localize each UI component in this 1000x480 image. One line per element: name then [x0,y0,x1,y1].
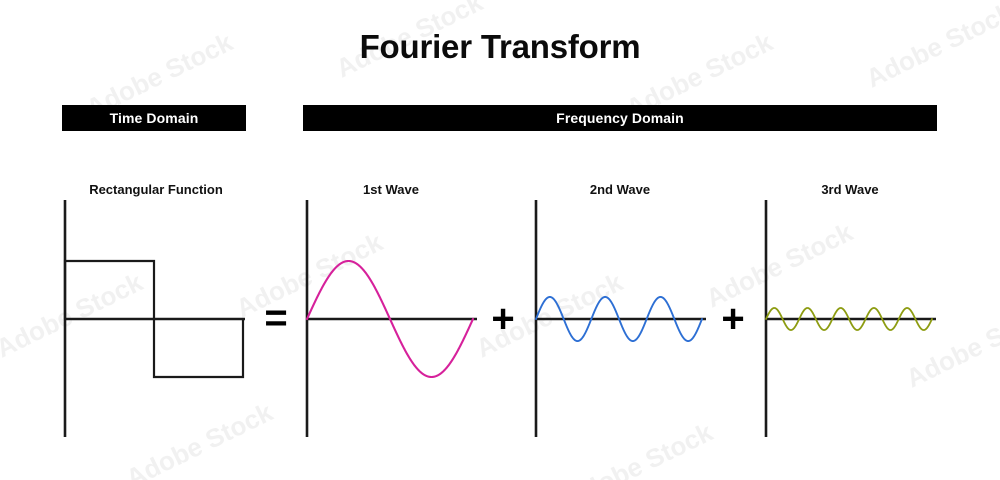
page-title: Fourier Transform [0,28,1000,66]
plot-3rd-wave-svg [756,195,946,445]
plus-operator-1: + [483,299,523,339]
plot-1st-wave-svg [297,195,487,445]
frequency-domain-bar: Frequency Domain [303,105,937,131]
plot-1st-wave [297,195,487,445]
plot-3rd-wave [756,195,946,445]
time-domain-bar-label: Time Domain [110,110,199,126]
fourier-transform-figure: Adobe Stock Adobe Stock Adobe Stock Adob… [0,0,1000,480]
plot-rectangular-function-svg [55,195,260,445]
frequency-domain-bar-label: Frequency Domain [556,110,684,126]
plot-2nd-wave-svg [526,195,716,445]
plot-2nd-wave [526,195,716,445]
plus-operator-2: + [713,299,753,339]
time-domain-bar: Time Domain [62,105,246,131]
equals-operator: = [256,298,296,338]
plot-rectangular-function [55,195,260,445]
